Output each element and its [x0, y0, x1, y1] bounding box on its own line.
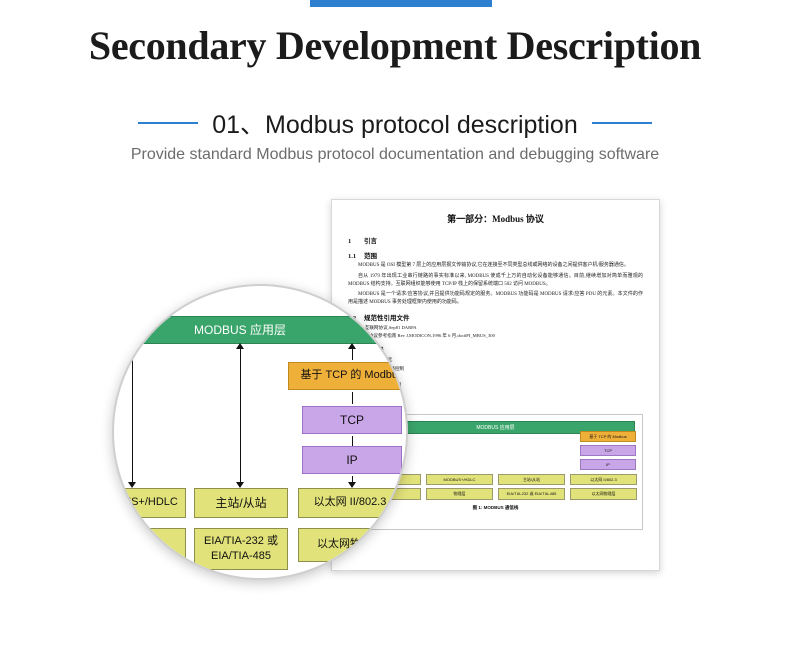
diagram-tcp-box: TCP: [580, 445, 636, 456]
diagram-column: 以太网 II/802.3 以太网物理层: [570, 474, 637, 499]
top-accent-bar: [310, 0, 492, 7]
doc-paragraph: 自从 1979 年出现工业串行链路的事实标准以来, MODBUS 使成千上万的自…: [348, 273, 643, 289]
zoom-modbus-hdlc-box: MODBUS+/HDLC: [112, 488, 186, 518]
zoom-eia-box: EIA/TIA-232 或 EIA/TIA-485: [194, 528, 288, 570]
arrow-head-icon: [236, 343, 244, 349]
doc-section-1-2: 1.2规范性引用文件: [348, 312, 643, 322]
zoom-ethernet-phy-box: 以太网物理层: [298, 528, 402, 562]
zoom-ethernet-box: 以太网 II/802.3: [298, 488, 402, 518]
divider-left: [138, 122, 198, 124]
zoom-application-layer: MODBUS 应用层: [112, 316, 378, 344]
zoom-tcp-modbus-box: 基于 TCP 的 Modbus: [288, 362, 408, 390]
zoom-physical-layer-box: 物理层: [112, 528, 186, 562]
zoom-tcp-box: TCP: [302, 406, 402, 434]
doc-section-1: 1引言: [348, 235, 643, 245]
doc-section-1-1: 1.1范围: [348, 250, 643, 260]
doc-paragraph: MODBUS 是 OSI 模型第 7 层上的应用层报文传输协议,它在连接至不同类…: [348, 262, 643, 270]
arrow-head-icon: [348, 343, 356, 349]
divider-right: [592, 122, 652, 124]
zoom-master-slave-box: 主站/从站: [194, 488, 288, 518]
section-heading-wrap: 01、Modbus protocol description: [0, 105, 790, 141]
zoom-ip-box: IP: [302, 446, 402, 474]
diagram-box: EIA/TIA-232 或 EIA/TIA-485: [498, 488, 565, 499]
doc-section-2: 2缩略语: [348, 344, 643, 354]
connector-line: [352, 392, 353, 404]
doc-paragraph: MODBUS 是一个请求/应答协议,并且提供功能码规定的服务。MODBUS 功能…: [348, 291, 643, 307]
diagram-column: 主站/从站 EIA/TIA-232 或 EIA/TIA-485: [498, 474, 565, 499]
page-title: Secondary Development Description: [0, 22, 790, 69]
diagram-box: 主站/从站: [498, 474, 565, 485]
connector-line: [240, 348, 241, 484]
connector-line: [352, 436, 353, 446]
section-heading: 01、Modbus protocol description: [212, 105, 577, 141]
doc-reference: RFC791,互联网协议,Sep81 DARPA: [348, 324, 643, 331]
diagram-box: 以太网 II/802.3: [570, 474, 637, 485]
arrow-head-icon: [236, 482, 244, 488]
diagram-box: 以太网物理层: [570, 488, 637, 499]
arrow-head-icon: [348, 482, 356, 488]
section-description: Provide standard Modbus protocol documen…: [0, 146, 790, 164]
arrow-head-icon: [128, 482, 136, 488]
doc-reference: MODBUS 协议参考指南 Rev J,MODICON,1996 年 6 月,d…: [348, 332, 643, 339]
diagram-ip-box: IP: [580, 459, 636, 470]
magnifier-lens: MODBUS 应用层 基于 TCP 的 Modbus TCP IP MODBUS…: [112, 284, 408, 580]
document-title: 第一部分：Modbus 协议: [348, 212, 643, 225]
connector-line: [352, 348, 353, 360]
arrow-head-icon: [128, 343, 136, 349]
connector-line: [132, 348, 133, 484]
diagram-box: 物理层: [426, 488, 493, 499]
diagram-box: MODBUS+/HDLC: [426, 474, 493, 485]
diagram-tcp-modbus-box: 基于 TCP 的 Modbus: [580, 431, 636, 442]
diagram-column: MODBUS+/HDLC 物理层: [426, 474, 493, 499]
